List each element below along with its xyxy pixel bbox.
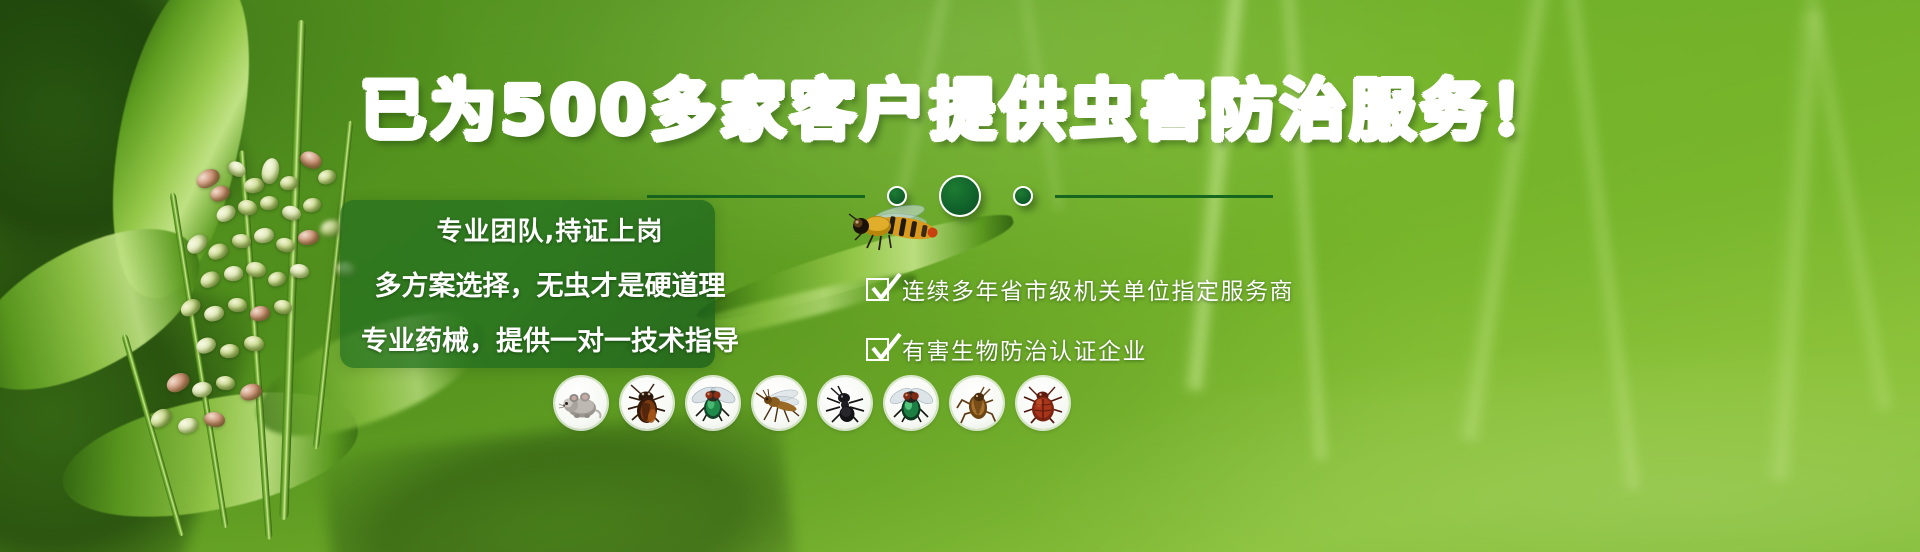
bedbug-icon[interactable]	[1017, 377, 1069, 429]
divider-dot-small-right	[1013, 186, 1033, 206]
checklist-item: 连续多年省市级机关单位指定服务商	[866, 272, 1294, 306]
banner-headline-text: 已为500多家客户提供虫害防治服务！	[360, 72, 1560, 149]
aphid	[266, 270, 287, 288]
divider-line-right	[1055, 195, 1273, 198]
aphid	[297, 229, 320, 247]
checklist: 连续多年省市级机关单位指定服务商 有害生物防治认证企业	[866, 272, 1294, 366]
checklist-item-label: 连续多年省市级机关单位指定服务商	[902, 272, 1294, 306]
aphid	[198, 268, 223, 291]
aphid	[163, 369, 192, 396]
aphid	[191, 380, 214, 399]
aphid	[243, 335, 265, 353]
divider-line-left	[647, 195, 865, 198]
feature-line-3: 专业药械，提供一对一技术指导	[361, 313, 739, 364]
mouse-icon[interactable]	[555, 377, 607, 429]
greenbottle-fly-icon[interactable]	[885, 377, 937, 429]
aphid	[202, 304, 225, 323]
checkbox-checked-icon	[866, 338, 889, 361]
hoverfly-illustration	[845, 198, 965, 258]
checklist-item-label: 有害生物防治认证企业	[902, 332, 1147, 366]
promo-banner: 已为500多家客户提供虫害防治服务！ 专业团队,持证上岗 多方案选择，无虫才是硬…	[0, 0, 1920, 552]
aphid	[298, 148, 325, 172]
feature-line-1: 专业团队,持证上岗	[437, 205, 664, 254]
feature-line-2: 多方案选择，无虫才是硬道理	[375, 258, 726, 309]
cockroach-icon[interactable]	[621, 377, 673, 429]
flea-icon[interactable]	[951, 377, 1003, 429]
checkbox-checked-icon	[866, 278, 889, 301]
aphid	[223, 265, 243, 282]
aphid	[253, 226, 275, 244]
checklist-item: 有害生物防治认证企业	[866, 332, 1294, 366]
aphid	[206, 241, 230, 263]
mosquito-icon[interactable]	[753, 377, 805, 429]
pest-icon-row	[555, 377, 1069, 429]
ant-icon[interactable]	[819, 377, 871, 429]
banner-headline: 已为500多家客户提供虫害防治服务！	[0, 78, 1920, 144]
feature-panel-text: 专业团队,持证上岗 多方案选择，无虫才是硬道理 专业药械，提供一对一技术指导	[340, 200, 760, 368]
housefly-icon[interactable]	[687, 377, 739, 429]
aphid	[219, 343, 239, 359]
aphid	[215, 375, 235, 391]
aphid	[228, 297, 248, 312]
